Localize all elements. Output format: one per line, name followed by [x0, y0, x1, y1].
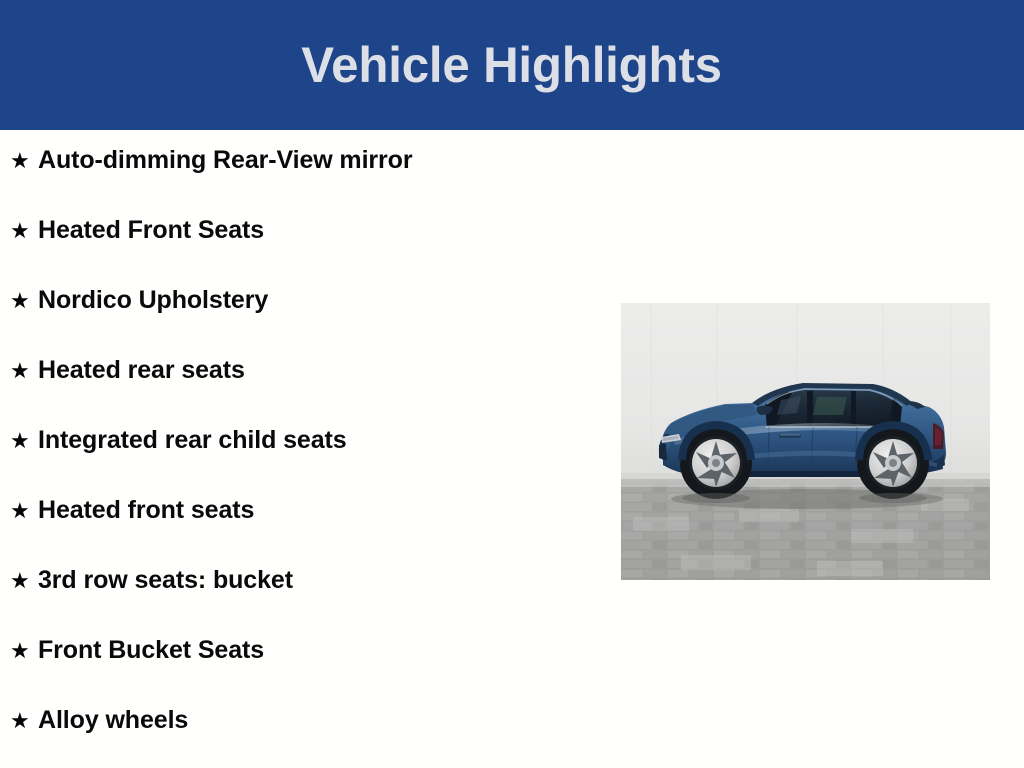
- list-item: ★ 3rd row seats: bucket: [10, 568, 293, 602]
- star-icon: ★: [10, 151, 38, 173]
- feature-label: Auto-dimming Rear-View mirror: [38, 148, 412, 173]
- list-item: ★ Auto-dimming Rear-View mirror: [10, 148, 412, 182]
- star-icon: ★: [10, 361, 38, 383]
- star-icon: ★: [10, 501, 38, 523]
- list-item: ★ Heated rear seats: [10, 358, 245, 392]
- star-icon: ★: [10, 641, 38, 663]
- list-item: ★ Integrated rear child seats: [10, 428, 347, 462]
- list-item: ★ Heated front seats: [10, 498, 254, 532]
- vehicle-photo: [621, 303, 990, 580]
- star-icon: ★: [10, 221, 38, 243]
- star-icon: ★: [10, 571, 38, 593]
- list-item: ★ Nordico Upholstery: [10, 288, 268, 322]
- slide-canvas: Vehicle Highlights ★ Auto-dimming Rear-V…: [0, 0, 1024, 768]
- page-title: Vehicle Highlights: [302, 40, 723, 90]
- list-item: ★ Alloy wheels: [10, 708, 188, 742]
- feature-label: 3rd row seats: bucket: [38, 568, 293, 593]
- feature-label: Front Bucket Seats: [38, 638, 264, 663]
- feature-label: Heated Front Seats: [38, 218, 264, 243]
- feature-label: Heated front seats: [38, 498, 254, 523]
- feature-label: Nordico Upholstery: [38, 288, 268, 313]
- star-icon: ★: [10, 711, 38, 733]
- list-item: ★ Heated Front Seats: [10, 218, 264, 252]
- title-banner: Vehicle Highlights: [0, 0, 1024, 130]
- list-item: ★ Front Bucket Seats: [10, 638, 264, 672]
- feature-label: Alloy wheels: [38, 708, 188, 733]
- vehicle-features-list: ★ Auto-dimming Rear-View mirror ★ Heated…: [0, 130, 600, 768]
- star-icon: ★: [10, 291, 38, 313]
- feature-label: Heated rear seats: [38, 358, 245, 383]
- feature-label: Integrated rear child seats: [38, 428, 347, 453]
- star-icon: ★: [10, 431, 38, 453]
